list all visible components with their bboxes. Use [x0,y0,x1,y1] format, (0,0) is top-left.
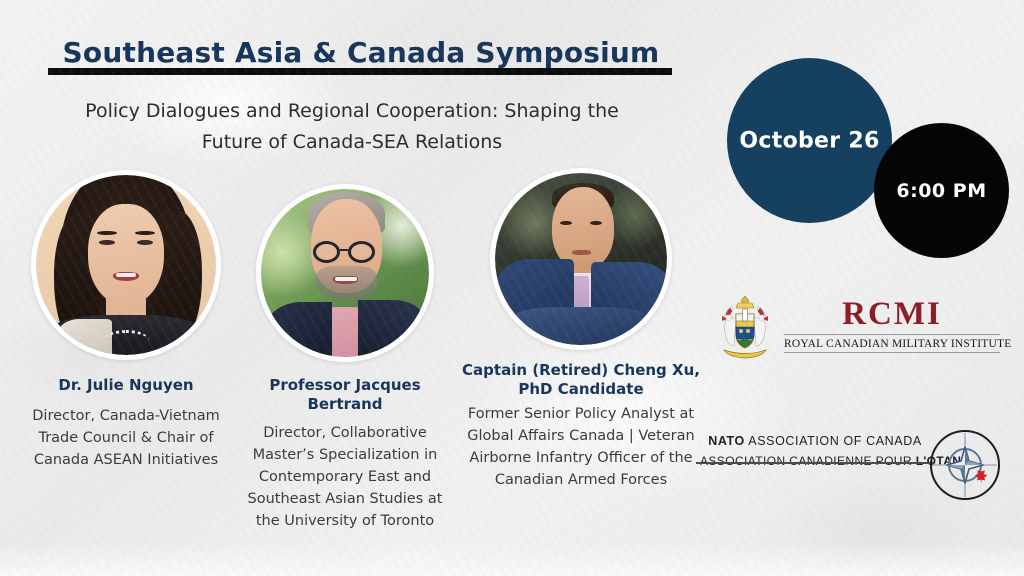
speaker-card: Captain (Retired) Cheng Xu, PhD Candidat… [456,168,706,491]
page-title: Southeast Asia & Canada Symposium [48,36,674,69]
rcmi-wordmark: RCMI ROYAL CANADIAN MILITARY INSTITUTE [784,296,1000,353]
speaker-name: Professor Jacques Bertrand [230,376,460,414]
nato-line2-rest: ASSOCIATION CANADIENNE POUR [700,454,916,468]
nato-divider-rule [696,462,934,464]
event-subtitle: Policy Dialogues and Regional Cooperatio… [62,96,642,158]
nato-wordmark: NATO ASSOCIATION OF CANADA ASSOCIATION C… [700,434,930,468]
speaker-card: Professor Jacques Bertrand Director, Col… [230,168,460,532]
title-underline-rule [48,68,672,75]
event-time-label: 6:00 PM [874,180,1009,202]
avatar [256,184,434,362]
nato-logo-line-fr: ASSOCIATION CANADIENNE POUR L'OTAN [700,448,930,468]
rcmi-logo: RCMI ROYAL CANADIAN MILITARY INSTITUTE [712,292,1002,367]
nato-line1-bold: NATO [708,434,745,448]
speakers-section: Dr. Julie Nguyen Director, Canada-Vietna… [8,168,708,568]
speaker-bio: Former Senior Policy Analyst at Global A… [456,403,706,491]
speaker-name: Dr. Julie Nguyen [20,376,232,395]
event-date-badge: October 26 [727,58,892,223]
speaker-card: Dr. Julie Nguyen Director, Canada-Vietna… [20,168,232,471]
nato-association-logo: NATO ASSOCIATION OF CANADA ASSOCIATION C… [700,428,1010,508]
portrait-cheng-xu [495,173,667,345]
rcmi-coat-of-arms-icon [714,294,776,364]
event-poster: Southeast Asia & Canada Symposium Policy… [0,0,1024,576]
event-date-label: October 26 [727,128,892,153]
speaker-name: Captain (Retired) Cheng Xu, PhD Candidat… [456,361,706,399]
rcmi-acronym: RCMI [784,296,1000,332]
event-time-badge: 6:00 PM [874,123,1009,258]
speaker-bio: Director, Collaborative Master’s Special… [230,422,460,532]
rcmi-full-name: ROYAL CANADIAN MILITARY INSTITUTE [784,334,1000,353]
bottom-gradient [0,542,1024,576]
speaker-bio: Director, Canada-Vietnam Trade Council &… [20,405,232,471]
nato-compass-star-maple-leaf-icon [928,428,1002,502]
avatar [490,168,672,350]
portrait-jacques-bertrand [261,189,429,357]
avatar [31,170,221,360]
portrait-julie-nguyen [36,175,216,355]
nato-logo-line-en: NATO ASSOCIATION OF CANADA [700,434,930,448]
nato-line1-rest: ASSOCIATION OF CANADA [745,434,922,448]
